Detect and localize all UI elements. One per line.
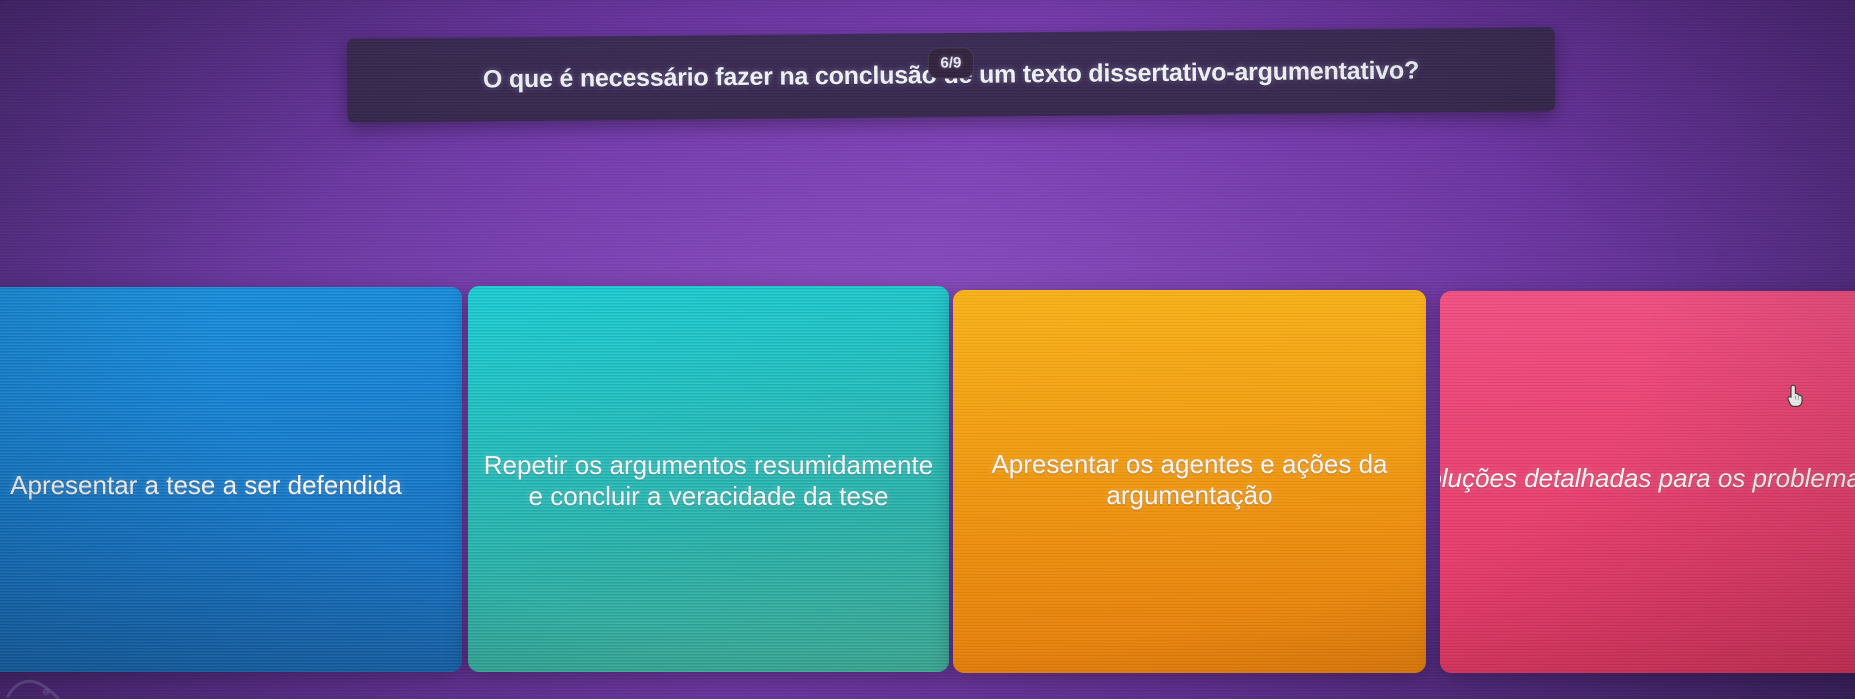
quiz-screen: O que é necessário fazer na conclusão de…	[0, 0, 1855, 699]
answer-option-1[interactable]: Apresentar a tese a ser defendida	[0, 287, 462, 672]
answer-option-2-label: Repetir os argumentos resumidamente e co…	[468, 450, 949, 511]
answer-option-3-label: Apresentar os agentes e ações da argumen…	[953, 449, 1426, 510]
question-panel: O que é necessário fazer na conclusão de…	[347, 27, 1556, 123]
question-counter-badge: 6/9	[928, 47, 974, 78]
answer-option-1-label: Apresentar a tese a ser defendida	[0, 470, 416, 501]
answer-option-3[interactable]: Apresentar os agentes e ações da argumen…	[953, 290, 1426, 673]
answer-option-4[interactable]: Propor soluções detalhadas para os probl…	[1440, 291, 1855, 673]
answer-option-4-label: Propor soluções detalhadas para os probl…	[1440, 463, 1855, 494]
answer-option-2[interactable]: Repetir os argumentos resumidamente e co…	[468, 286, 949, 672]
